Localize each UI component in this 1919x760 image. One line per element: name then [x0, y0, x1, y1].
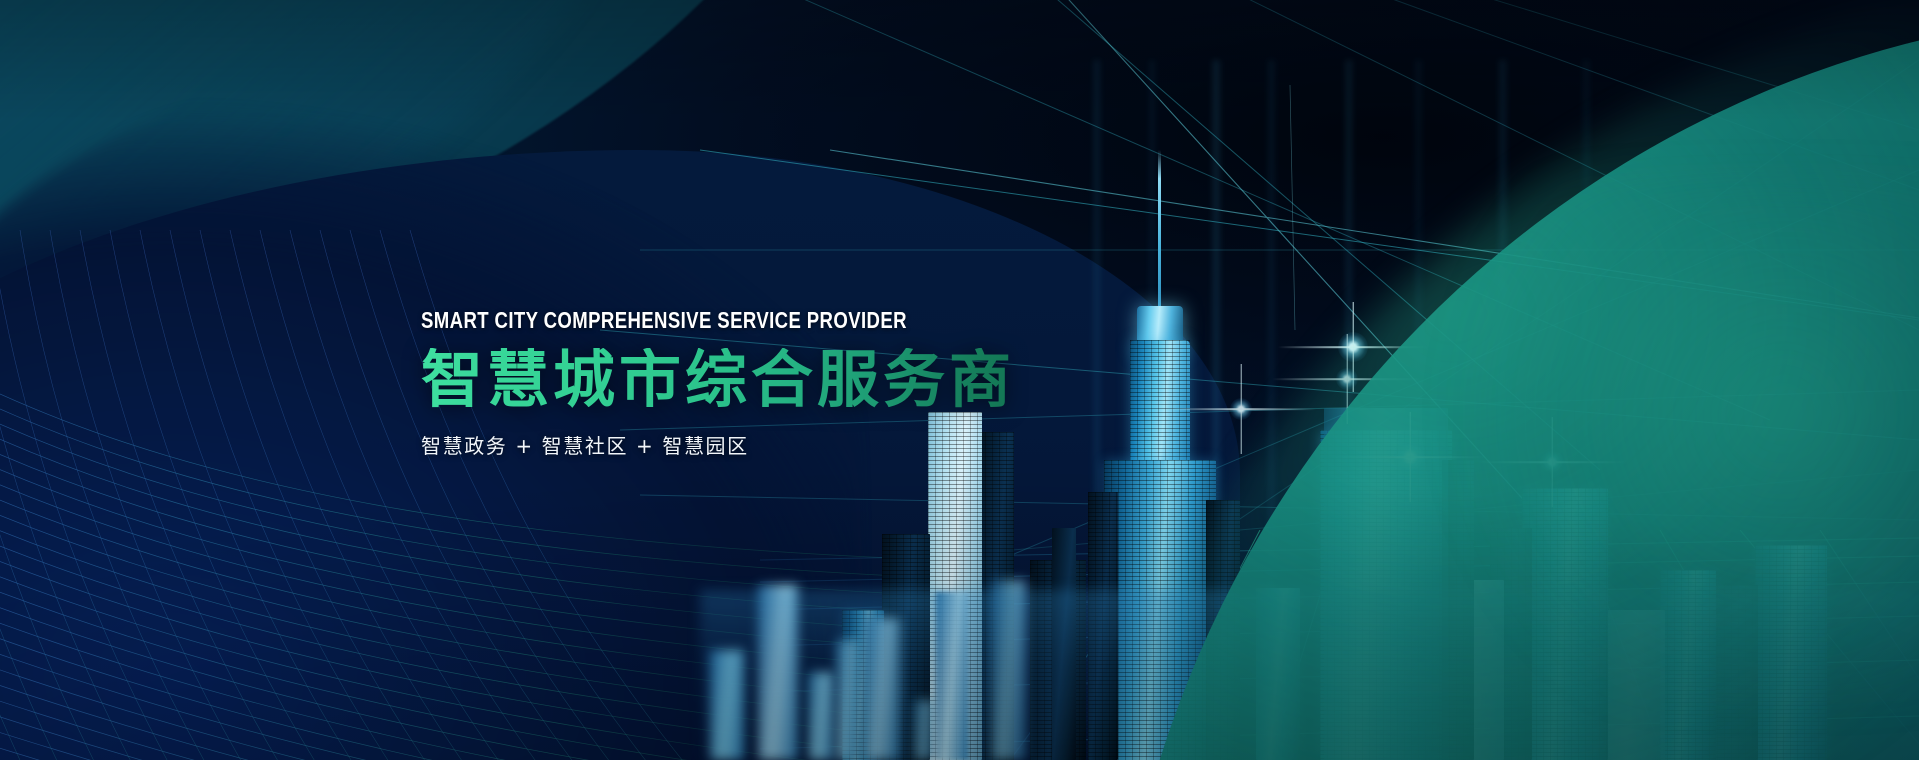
hero-headline-chinese: 智慧城市综合服务商	[421, 348, 1036, 411]
hero-copy-block: SMART CITY COMPREHENSIVE SERVICE PROVIDE…	[421, 307, 1036, 459]
building-mid-dark-thin	[1052, 528, 1076, 760]
foreground-bar-6	[914, 700, 934, 760]
foreground-bar-7	[936, 592, 968, 760]
foreground-bar-1	[710, 650, 744, 760]
green-ambient-glow	[1399, 180, 1919, 700]
hero-eyebrow-english: SMART CITY COMPREHENSIVE SERVICE PROVIDE…	[421, 307, 907, 334]
foreground-bar-4	[836, 640, 858, 760]
foreground-bar-2	[758, 585, 798, 760]
foreground-bar-8	[992, 580, 1026, 760]
hero-subline-services: 智慧政务 + 智慧社区 + 智慧园区	[421, 430, 1036, 459]
central-tower-shoulder-left	[1088, 492, 1118, 760]
central-tower-spire	[1158, 150, 1161, 310]
foreground-bar-3	[808, 672, 834, 760]
smart-city-hero-banner: SMART CITY COMPREHENSIVE SERVICE PROVIDE…	[0, 0, 1919, 760]
foreground-bar-5	[864, 618, 900, 760]
